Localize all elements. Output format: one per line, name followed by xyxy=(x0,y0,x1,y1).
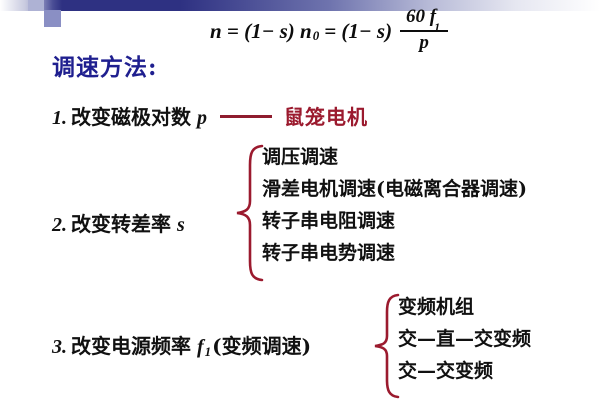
formula-numerator-subscript: 1 xyxy=(434,20,440,34)
list-item-3-variable: f xyxy=(197,336,204,359)
list-item-3-variable-subscript: 1 xyxy=(205,344,212,360)
list-item-2-label: 改变转差率 xyxy=(71,208,171,237)
list-item-1: 1. 改变磁极对数 p 鼠笼电机 xyxy=(52,101,368,130)
formula-numerator-text: 60 f xyxy=(406,6,436,27)
sub-item: 调压调速 xyxy=(262,148,527,167)
page-title: 调速方法: xyxy=(52,48,158,82)
list-item-3-number: 3. xyxy=(52,336,67,359)
sub-item: 变频机组 xyxy=(398,298,531,317)
list-item-3-label: 改变电源频率 xyxy=(71,330,191,359)
sub-item: 交—直—交变频 xyxy=(398,330,531,349)
sub-list-item3: 变频机组 交—直—交变频 交—交变频 xyxy=(398,298,531,381)
list-item-3: 3. 改变电源频率 f1 (变频调速) xyxy=(52,330,311,359)
list-item-2-variable: s xyxy=(177,214,185,237)
sub-list-item2: 调压调速 滑差电机调速(电磁离合器调速) 转子串电阻调速 转子串电势调速 xyxy=(262,148,527,263)
list-item-1-highlight: 鼠笼电机 xyxy=(284,101,368,130)
formula-fraction: 60 f1 p xyxy=(400,7,448,53)
sub-item: 转子串电势调速 xyxy=(262,244,527,263)
sub-item: 滑差电机调速(电磁离合器调速) xyxy=(262,180,527,199)
list-item-3-suffix: (变频调速) xyxy=(212,330,311,359)
formula-mid: = (1− s) xyxy=(324,19,392,44)
sub-item: 转子串电阻调速 xyxy=(262,212,527,231)
slip-speed-formula: n = (1− s) n0 = (1− s) 60 f1 p xyxy=(210,8,448,54)
formula-lhs-subscript: 0 xyxy=(313,28,320,44)
formula-denominator: p xyxy=(419,33,429,53)
list-item-2: 2. 改变转差率 s xyxy=(52,208,186,237)
list-item-1-number: 1. xyxy=(52,107,67,130)
header-accent-square xyxy=(44,10,61,27)
list-item-2-number: 2. xyxy=(52,214,67,237)
sub-item: 交—交变频 xyxy=(398,362,531,381)
curly-brace-icon-item2 xyxy=(232,143,266,283)
list-item-1-label: 改变磁极对数 xyxy=(71,101,191,130)
em-dash-connector-icon xyxy=(220,115,272,118)
formula-numerator: 60 f1 xyxy=(403,7,445,29)
header-accent-square-pale xyxy=(28,0,44,11)
list-item-1-variable: p xyxy=(197,107,207,130)
formula-lhs: n = (1− s) n xyxy=(210,19,312,44)
